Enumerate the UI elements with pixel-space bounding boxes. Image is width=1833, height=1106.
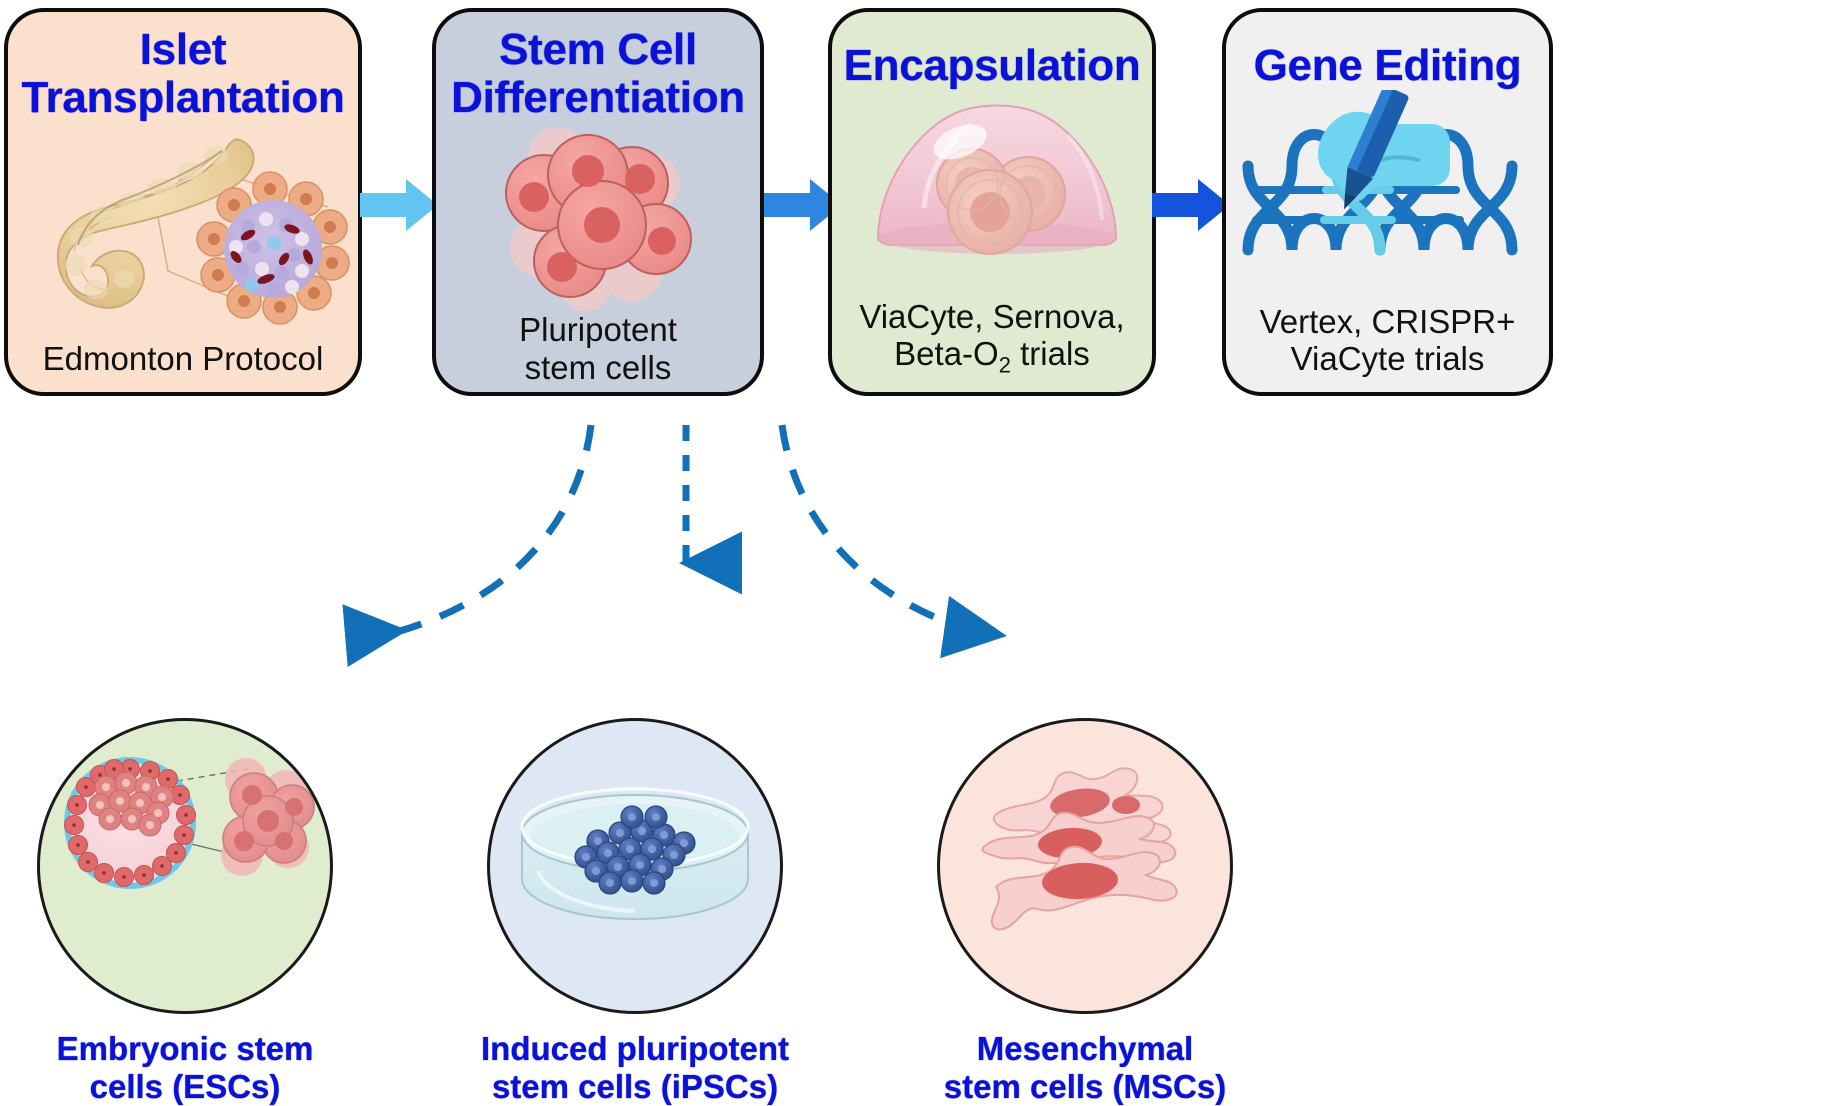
stage-caption-line1: Edmonton Protocol (43, 340, 324, 378)
stage-caption-line1: ViaCyte, Sernova, (859, 298, 1124, 336)
blastocyst-esc-icon (37, 718, 333, 1014)
cell-type-label-esc: Embryonic stem cells (ESCs) (20, 1030, 350, 1106)
caption-trials: trials (1011, 335, 1090, 372)
cell-label-line1: Mesenchymal (920, 1030, 1250, 1068)
arrow-encapsulation-to-gene-editing (1152, 175, 1230, 235)
stage-title-line1: Gene Editing (1254, 42, 1522, 90)
caption-o2-subscript: 2 (999, 353, 1011, 378)
cell-label-line2: stem cells (iPSCs) (470, 1068, 800, 1106)
cell-label-line2: stem cells (MSCs) (920, 1068, 1250, 1106)
stage-caption-line2: stem cells (519, 349, 677, 387)
dna-pen-editing-icon (1226, 90, 1549, 303)
stage-box-islet-transplantation[interactable]: Islet Transplantation (4, 8, 362, 396)
arrow-islet-to-stemcell (360, 175, 438, 235)
stage-caption-line2: ViaCyte trials (1260, 340, 1516, 378)
stage-caption-encapsulation: ViaCyte, Sernova, Beta-O2 trials (859, 298, 1124, 392)
stage-caption-line1: Vertex, CRISPR+ (1260, 303, 1516, 341)
stage-caption-stem-cell-differentiation: Pluripotent stem cells (519, 311, 677, 400)
stage-caption-line2: Beta-O2 trials (859, 335, 1124, 378)
cell-type-mesenchymal-stem-cells[interactable]: Mesenchymal stem cells (MSCs) (920, 718, 1250, 1106)
stage-title-line1: Encapsulation (844, 42, 1141, 90)
stage-caption-islet-transplantation: Edmonton Protocol (43, 340, 324, 392)
stage-caption-gene-editing: Vertex, CRISPR+ ViaCyte trials (1260, 303, 1516, 392)
cell-type-embryonic-stem-cells[interactable]: Embryonic stem cells (ESCs) (20, 718, 350, 1106)
petri-dish-ipsc-icon (487, 718, 783, 1014)
caption-beta-o: Beta-O (894, 335, 999, 372)
cell-label-line1: Induced pluripotent (470, 1030, 800, 1068)
stage-title-islet-transplantation: Islet Transplantation (21, 26, 344, 121)
stage-caption-line1: Pluripotent (519, 311, 677, 349)
stage-title-line1: Stem Cell (451, 26, 745, 74)
stage-box-stem-cell-differentiation[interactable]: Stem Cell Differentiation (432, 8, 764, 396)
stage-title-gene-editing: Gene Editing (1254, 42, 1522, 90)
cell-type-label-ipsc: Induced pluripotent stem cells (iPSCs) (470, 1030, 800, 1106)
pancreas-islet-icon (8, 121, 358, 340)
mesenchymal-cell-icon (937, 718, 1233, 1014)
stage-title-line1: Islet (21, 26, 344, 74)
cell-label-line2: cells (ESCs) (20, 1068, 350, 1106)
cell-label-line1: Embryonic stem (20, 1030, 350, 1068)
stage-box-gene-editing[interactable]: Gene Editing (1222, 8, 1553, 396)
stage-title-stem-cell-differentiation: Stem Cell Differentiation (451, 26, 745, 121)
stage-title-line2: Differentiation (451, 74, 745, 122)
encapsulation-device-icon (832, 90, 1152, 298)
figure-canvas: Islet Transplantation (0, 0, 1833, 1106)
stem-cell-cluster-icon (436, 121, 760, 311)
cell-type-label-msc: Mesenchymal stem cells (MSCs) (920, 1030, 1250, 1106)
stage-title-line2: Transplantation (21, 74, 344, 122)
cell-type-induced-pluripotent-stem-cells[interactable]: Induced pluripotent stem cells (iPSCs) (470, 718, 800, 1106)
stage-box-encapsulation[interactable]: Encapsulation (828, 8, 1156, 396)
stage-title-encapsulation: Encapsulation (844, 42, 1141, 90)
